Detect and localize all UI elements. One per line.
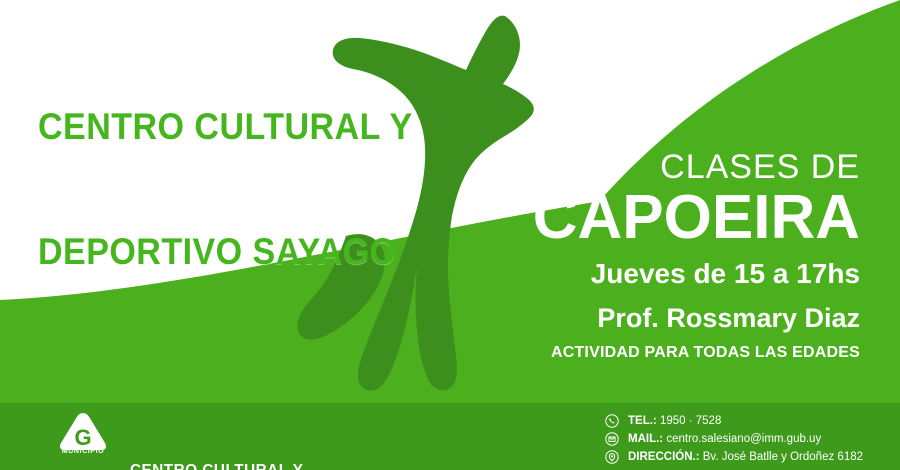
info-audience: ACTIVIDAD PARA TODAS LAS EDADES — [440, 344, 860, 362]
headline-line-2: DEPORTIVO SAYAGO — [38, 231, 413, 273]
contact-value-phone: 1950 · 7528 — [660, 415, 721, 427]
footer-brand: CENTRO CULTURAL Y DEPORTIVO SAYAGO — [130, 417, 304, 470]
municipio-caption: MUNICIPIO — [55, 448, 111, 455]
contact-value-address: Bv. José Batlle y Ordoñez 6182 — [703, 451, 863, 463]
footer-bar: G MUNICIPIO CENTRO CULTURAL Y DEPORTIVO … — [0, 403, 900, 470]
contact-row-phone: TEL.: 1950 · 7528 — [605, 412, 895, 429]
contact-list: TEL.: 1950 · 7528 MAIL.: centro.salesian… — [605, 412, 895, 466]
contact-label-address: DIRECCIÓN.: — [628, 451, 700, 463]
municipio-letter: G — [74, 425, 91, 450]
contact-row-mail: MAIL.: centro.salesiano@imm.gub.uy — [605, 430, 895, 447]
info-title: CAPOEIRA — [440, 186, 860, 249]
mail-icon — [605, 432, 619, 446]
headline-line-1: CENTRO CULTURAL Y — [38, 106, 413, 148]
footer-brand-line-1: CENTRO CULTURAL Y — [130, 460, 304, 470]
class-info-block: CLASES DE CAPOEIRA Jueves de 15 a 17hs P… — [440, 150, 860, 361]
contact-text-mail: MAIL.: centro.salesiano@imm.gub.uy — [628, 432, 821, 446]
info-schedule: Jueves de 15 a 17hs — [440, 259, 860, 290]
info-kicker: CLASES DE — [440, 150, 860, 184]
municipio-logo: G MUNICIPIO — [55, 410, 111, 466]
info-instructor: Prof. Rossmary Diaz — [440, 304, 860, 334]
contact-text-phone: TEL.: 1950 · 7528 — [628, 414, 721, 428]
page-title: CENTRO CULTURAL Y DEPORTIVO SAYAGO — [38, 22, 413, 356]
contact-value-mail: centro.salesiano@imm.gub.uy — [666, 433, 821, 445]
municipio-triangle-icon: G — [55, 410, 111, 466]
contact-row-address: DIRECCIÓN.: Bv. José Batlle y Ordoñez 61… — [605, 448, 895, 465]
promo-banner: CENTRO CULTURAL Y DEPORTIVO SAYAGO CLASE… — [0, 0, 900, 470]
contact-label-mail: MAIL.: — [628, 433, 663, 445]
contact-text-address: DIRECCIÓN.: Bv. José Batlle y Ordoñez 61… — [628, 450, 863, 464]
contact-label-phone: TEL.: — [628, 415, 657, 427]
phone-icon — [605, 414, 619, 428]
location-icon — [605, 450, 619, 464]
